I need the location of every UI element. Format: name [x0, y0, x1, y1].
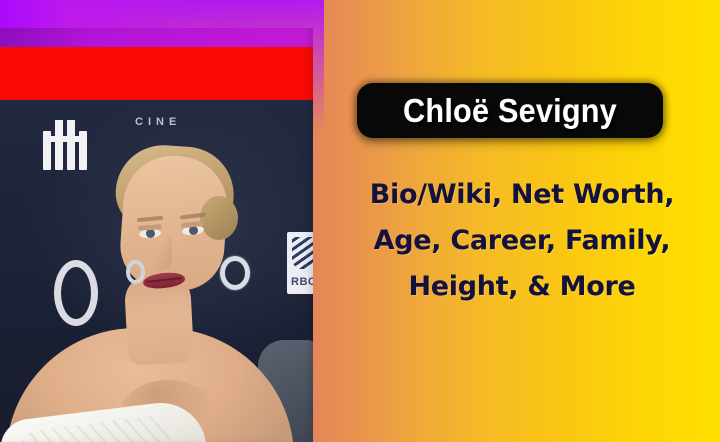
- subtitle-line-3: Height, & More: [324, 264, 720, 310]
- photo-subject-figure: [0, 28, 313, 442]
- subtitle-line-1: Bio/Wiki, Net Worth,: [324, 172, 720, 218]
- subject-left-earring: [126, 260, 145, 284]
- subject-right-earring: [220, 256, 250, 290]
- celebrity-name-label: Chloë Sevigny: [403, 92, 617, 130]
- subject-nose: [150, 236, 172, 270]
- subtitle-block: Bio/Wiki, Net Worth, Age, Career, Family…: [324, 172, 720, 310]
- text-column: Chloë Sevigny Bio/Wiki, Net Worth, Age, …: [324, 0, 720, 442]
- celebrity-name-badge: Chloë Sevigny: [357, 83, 663, 138]
- subject-hair-bun: [200, 196, 238, 240]
- celebrity-photo: CINE RBC: [0, 28, 313, 442]
- subtitle-line-2: Age, Career, Family,: [324, 218, 720, 264]
- thumbnail-canvas: CINE RBC: [0, 0, 720, 442]
